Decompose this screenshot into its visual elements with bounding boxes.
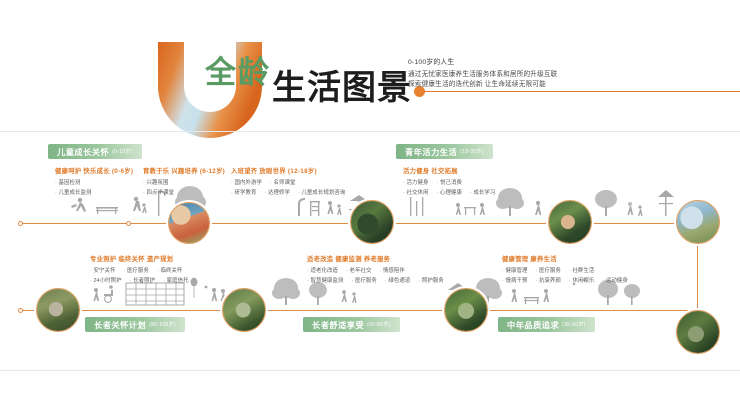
group-senior-comfort: 适老改造 健康监测 养老服务 适老化改造 老年社交 情感陪伴 智慧健康监测 医疗… (307, 254, 444, 284)
group-item: 临终关怀 (157, 266, 182, 274)
photo-medallion-elder-care (222, 288, 266, 332)
group-item: 医疗服务 (535, 266, 560, 274)
group-item: 达理修学 (264, 188, 289, 196)
group-item: 兴趣氛围 (143, 178, 168, 186)
group-item: 休闲娱乐 (569, 276, 594, 284)
badge-stage-children[interactable]: 儿童成长关怀 (0-18岁) (48, 144, 142, 159)
badge-label: 儿童成长关怀 (57, 146, 109, 158)
group-heading: 活力健身 社交拓展 (403, 166, 495, 175)
group-item: 医疗服务 (123, 266, 148, 274)
group-item: 心理健康 (436, 188, 461, 196)
badge-stage-senior-comfort[interactable]: 长者舒适享受 (60-80岁) (303, 317, 400, 332)
group-item: 智慧健康监测 (307, 276, 343, 284)
group-item: 活力健身 (403, 178, 428, 186)
group-item: 儿童成长规划咨询 (298, 188, 345, 196)
subtitle-line-1: 0-100岁的人生 (408, 58, 628, 69)
group-item: 老年社交 (346, 266, 371, 274)
photo-medallion-elder-plan (36, 288, 80, 332)
page-title: 生活图景 (272, 60, 412, 109)
badge-age-range: (80-100岁) (149, 321, 176, 328)
group-item: 社群生活 (569, 266, 594, 274)
group-item: 国内外游学 (231, 178, 262, 186)
group-item: 照护服务 (418, 276, 443, 284)
group-item: 成长学习 (470, 188, 495, 196)
group-item: 情感陪伴 (379, 266, 404, 274)
group-item: 基因检测 (55, 178, 80, 186)
group-item: 悦己消费 (436, 178, 461, 186)
photo-medallion-youth (548, 200, 592, 244)
group-item: 社交休闲 (403, 188, 428, 196)
group-heading: 育教于乐 兴趣培养 (6-12岁) (143, 166, 225, 175)
group-item: 名师课堂 (270, 178, 295, 186)
group-midlife: 健康管理 康养生活 健康管理 医疗服务 社群生活 慢病干预 抗衰养颜 休闲娱乐 … (502, 254, 628, 284)
badge-age-range: (35-60岁) (562, 321, 586, 328)
group-item: 慢病干预 (502, 276, 527, 284)
title-prefix: 全龄 (205, 47, 271, 92)
group-youth: 活力健身 社交拓展 活力健身 悦己消费 社交休闲 心理健康 成长学习 (403, 166, 495, 196)
group-heading: 入班望齐 放眼世界 (12-18岁) (231, 166, 345, 175)
header-divider-line (424, 91, 740, 92)
footer-hairline (0, 370, 740, 371)
group-heading: 适老改造 健康监测 养老服务 (307, 254, 444, 263)
group-item: 适老化改造 (307, 266, 338, 274)
header-bottom-hairline (0, 131, 740, 132)
group-item: 健康管理 (502, 266, 527, 274)
group-heading: 健康管理 康养生活 (502, 254, 628, 263)
group-child-6-12: 育教于乐 兴趣培养 (6-12岁) 兴趣氛围 四点半课堂 (143, 166, 225, 196)
photo-medallion-teen (350, 200, 394, 244)
photo-medallion-senior-comfort (444, 288, 488, 332)
badge-label: 长者舒适享受 (312, 319, 364, 331)
photo-medallion-midlife-top (676, 200, 720, 244)
group-elder-care: 专业照护 临终关怀 遗产规划 安宁关怀 医疗服务 临终关怀 24小时照护 长者照… (90, 254, 189, 284)
subtitle-line-2: 通过无忧家医康养生活服务体系和居所的升级互联 (408, 70, 628, 81)
group-item: 24小时照护 (90, 276, 122, 284)
badge-label: 中年品质追求 (507, 319, 559, 331)
group-item: 绿色通道 (385, 276, 410, 284)
photo-medallion-midlife-bottom (676, 310, 720, 354)
badge-age-range: (18-35岁) (460, 148, 484, 155)
group-item: 长者照护 (130, 276, 155, 284)
group-item: 抗衰养颜 (535, 276, 560, 284)
group-item: 研学教育 (231, 188, 256, 196)
group-item: 运动健身 (602, 276, 627, 284)
subtitle-line-3: 探索健康生活的迭代创新 让生命延续无限可能 (408, 80, 628, 91)
group-item: 家庭信托 (163, 276, 188, 284)
photo-medallion-childhood (168, 202, 210, 244)
badge-stage-midlife[interactable]: 中年品质追求 (35-60岁) (498, 317, 595, 332)
group-heading: 专业照护 临终关怀 遗产规划 (90, 254, 189, 263)
group-heading: 健康呵护 快乐成长 (0-6岁) (55, 166, 133, 175)
badge-stage-elder-plan[interactable]: 长者关怀计划 (80-100岁) (85, 317, 185, 332)
badge-label: 青年活力生活 (405, 146, 457, 158)
group-item: 四点半课堂 (143, 188, 174, 196)
group-child-0-6: 健康呵护 快乐成长 (0-6岁) 基因检测 儿童成长监测 (55, 166, 133, 196)
badge-age-range: (60-80岁) (367, 321, 391, 328)
group-item: 安宁关怀 (90, 266, 115, 274)
group-item: 儿童成长监测 (55, 188, 91, 196)
group-item: 医疗服务 (351, 276, 376, 284)
group-child-12-18: 入班望齐 放眼世界 (12-18岁) 国内外游学 名师课堂 研学教育 达理修学 … (231, 166, 345, 196)
badge-stage-youth[interactable]: 青年活力生活 (18-35岁) (396, 144, 493, 159)
subtitle-block: 0-100岁的人生 通过无忧家医康养生活服务体系和居所的升级互联 探索健康生活的… (408, 58, 628, 91)
header-section: 全龄 生活图景 0-100岁的人生 通过无忧家医康养生活服务体系和居所的升级互联… (0, 0, 740, 132)
badge-label: 长者关怀计划 (94, 319, 146, 331)
badge-age-range: (0-18岁) (112, 148, 132, 155)
infographic-canvas: 全龄 生活图景 0-100岁的人生 通过无忧家医康养生活服务体系和居所的升级互联… (0, 0, 740, 416)
